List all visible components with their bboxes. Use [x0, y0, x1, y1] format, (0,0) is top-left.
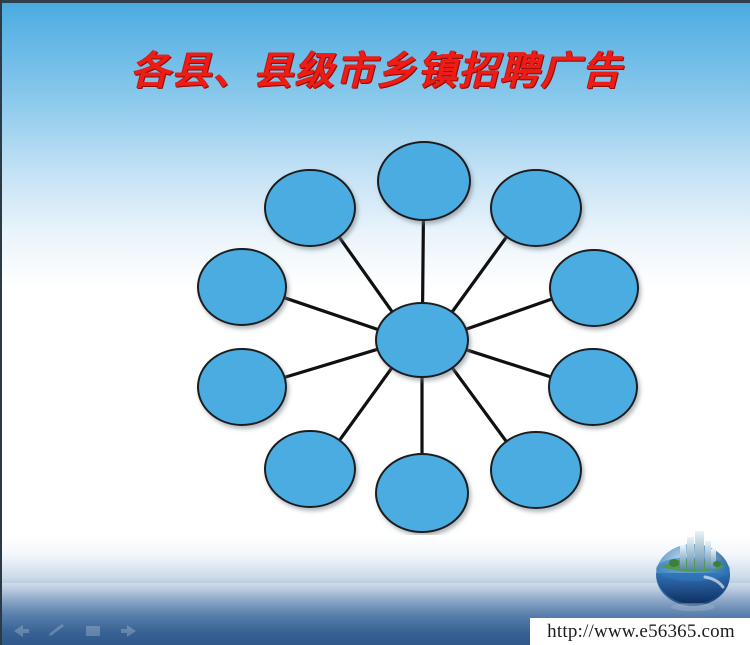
spoke-line-4 [466, 350, 550, 377]
spoke-line-10 [339, 237, 392, 312]
satellite-node-shape-9[interactable] [198, 249, 286, 325]
satellite-node-shape-4[interactable] [549, 349, 637, 425]
hub-node [376, 303, 468, 377]
satellite-node-shape-7[interactable] [265, 431, 355, 507]
watermark-url: http://www.e56365.com [530, 618, 750, 645]
satellite-node-8[interactable] [198, 349, 286, 425]
globe-city-logo [647, 517, 739, 613]
satellite-node-shape-8[interactable] [198, 349, 286, 425]
satellite-node-2[interactable] [491, 170, 581, 246]
satellite-node-3[interactable] [550, 250, 638, 326]
hub-node-shape[interactable] [376, 303, 468, 377]
spoke-line-3 [466, 299, 552, 329]
background-bottom-sheen [2, 583, 750, 609]
satellite-node-1[interactable] [378, 142, 470, 220]
spoke-line-5 [452, 368, 506, 442]
satellite-node-shape-10[interactable] [265, 170, 355, 246]
slide-menu-button[interactable] [82, 623, 104, 639]
slide-canvas: 各县、县级市乡镇招聘广告 [0, 0, 750, 645]
spoke-line-2 [452, 237, 507, 312]
slideshow-nav-bar[interactable] [10, 623, 140, 639]
spoke-line-8 [285, 349, 378, 377]
satellite-node-shape-1[interactable] [378, 142, 470, 220]
satellite-node-6[interactable] [376, 454, 468, 532]
satellite-node-4[interactable] [549, 349, 637, 425]
satellite-node-9[interactable] [198, 249, 286, 325]
satellite-node-shape-2[interactable] [491, 170, 581, 246]
spoke-line-7 [340, 368, 392, 440]
satellite-node-shape-5[interactable] [491, 432, 581, 508]
satellite-node-10[interactable] [265, 170, 355, 246]
satellite-node-shape-3[interactable] [550, 250, 638, 326]
previous-slide-button[interactable] [10, 623, 32, 639]
spoke-line-9 [284, 298, 378, 330]
next-slide-button[interactable] [118, 623, 140, 639]
satellite-node-5[interactable] [491, 432, 581, 508]
spoke-line-1 [423, 220, 424, 303]
pen-tool-button[interactable] [46, 623, 68, 639]
satellite-node-shape-6[interactable] [376, 454, 468, 532]
satellite-node-7[interactable] [265, 431, 355, 507]
